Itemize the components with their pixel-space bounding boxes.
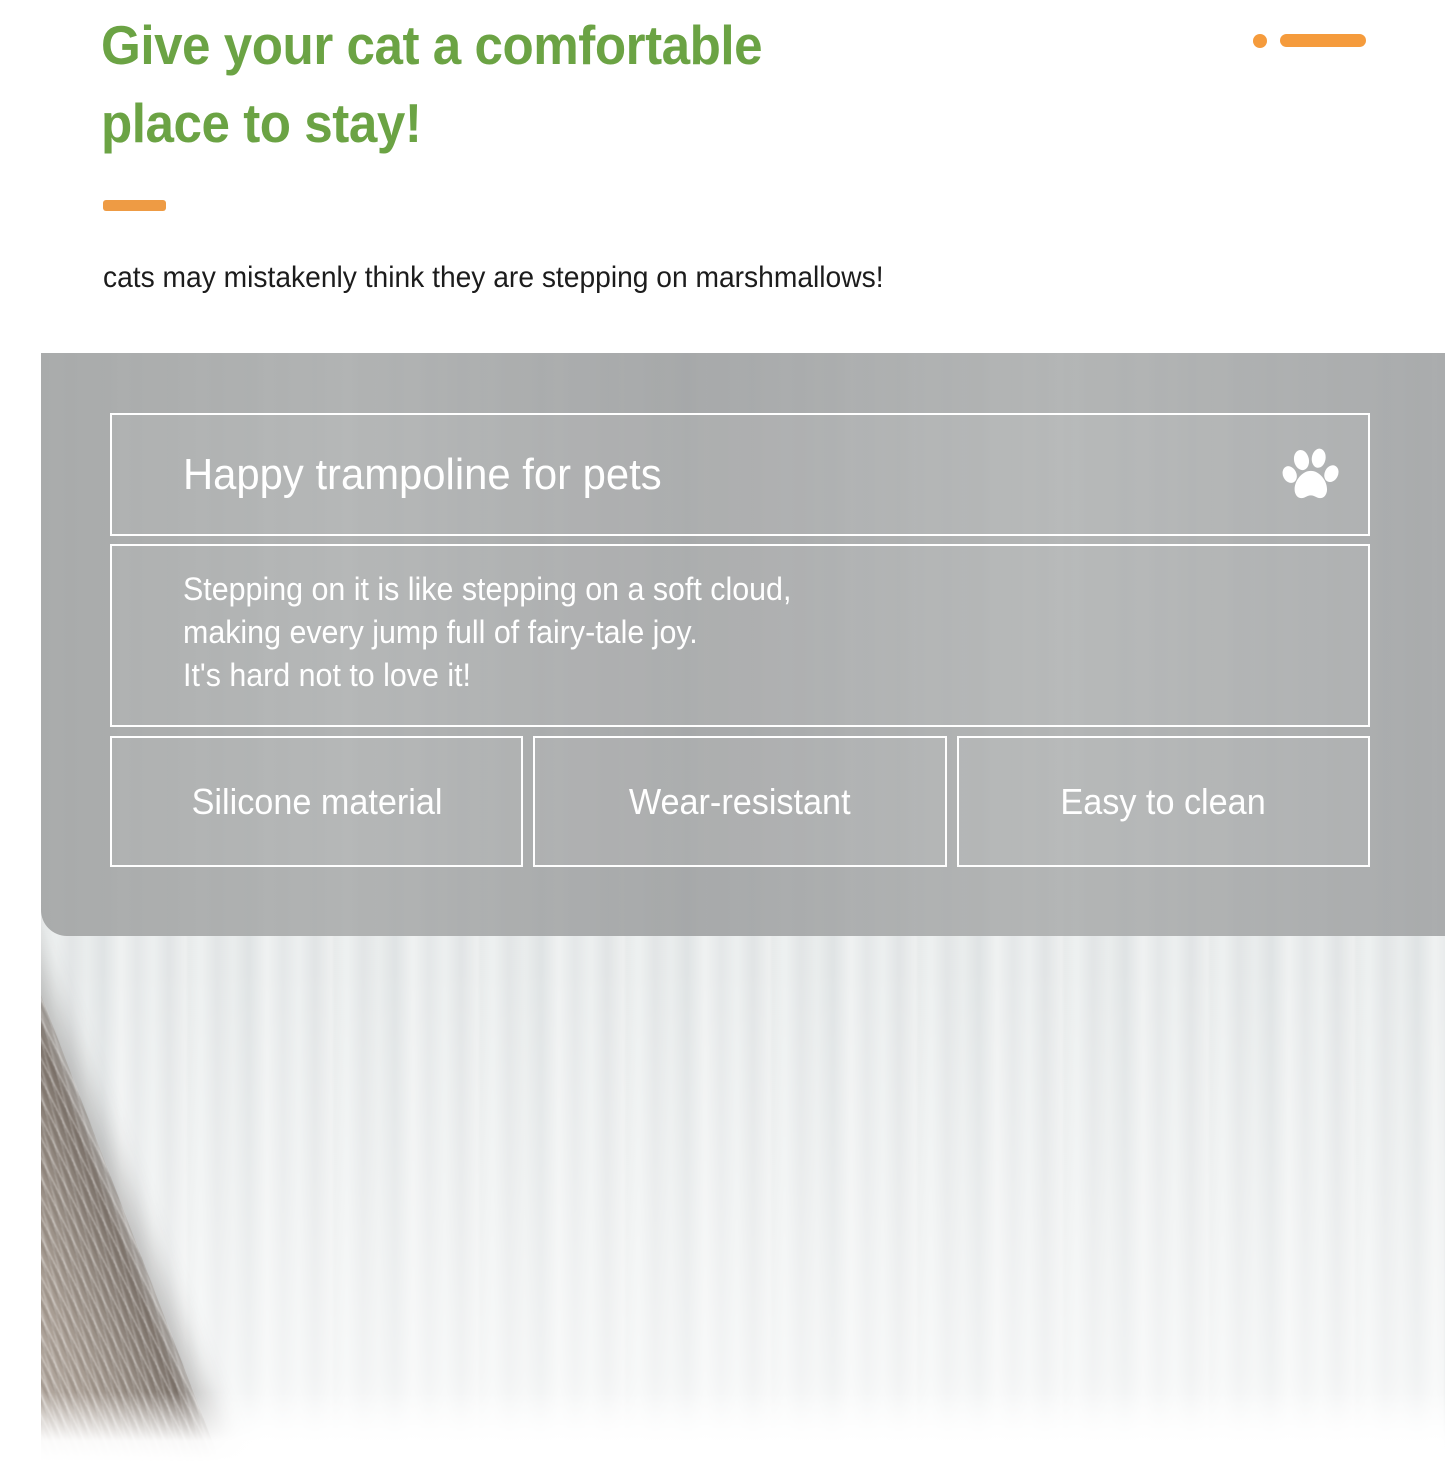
feature-label: Easy to clean [1061,784,1266,820]
page-subtitle: cats may mistakenly think they are stepp… [103,258,1137,298]
photo-bottom-fade [41,1392,1445,1462]
card-description-line-3: It's hard not to love it! [183,654,1280,697]
orange-rule-icon [103,200,166,211]
card-header: Happy trampoline for pets [110,413,1370,536]
page-title: Give your cat a comfortable place to sta… [101,6,1031,162]
orange-dot-icon [1253,34,1267,48]
hero-photo: Happy trampoline for pets Stepping on it… [41,353,1445,1462]
product-listing-page: Give your cat a comfortable place to sta… [0,0,1445,1462]
card-description-line-2: making every jump full of fairy-tale joy… [183,611,1280,654]
feature-label: Silicone material [191,784,442,820]
card-title: Happy trampoline for pets [183,453,662,497]
card-description-line-1: Stepping on it is like stepping on a sof… [183,568,1280,611]
paw-print-icon [1282,446,1340,504]
feature-box-easy-to-clean: Easy to clean [957,736,1370,867]
orange-bar-icon [1280,34,1366,47]
info-card: Happy trampoline for pets Stepping on it… [110,413,1370,867]
feature-label: Wear-resistant [629,784,851,820]
feature-box-wear-resistant: Wear-resistant [533,736,946,867]
card-description: Stepping on it is like stepping on a sof… [110,544,1370,727]
feature-row: Silicone material Wear-resistant Easy to… [110,736,1370,867]
feature-box-silicone-material: Silicone material [110,736,523,867]
feature-overlay-panel: Happy trampoline for pets Stepping on it… [41,353,1445,936]
